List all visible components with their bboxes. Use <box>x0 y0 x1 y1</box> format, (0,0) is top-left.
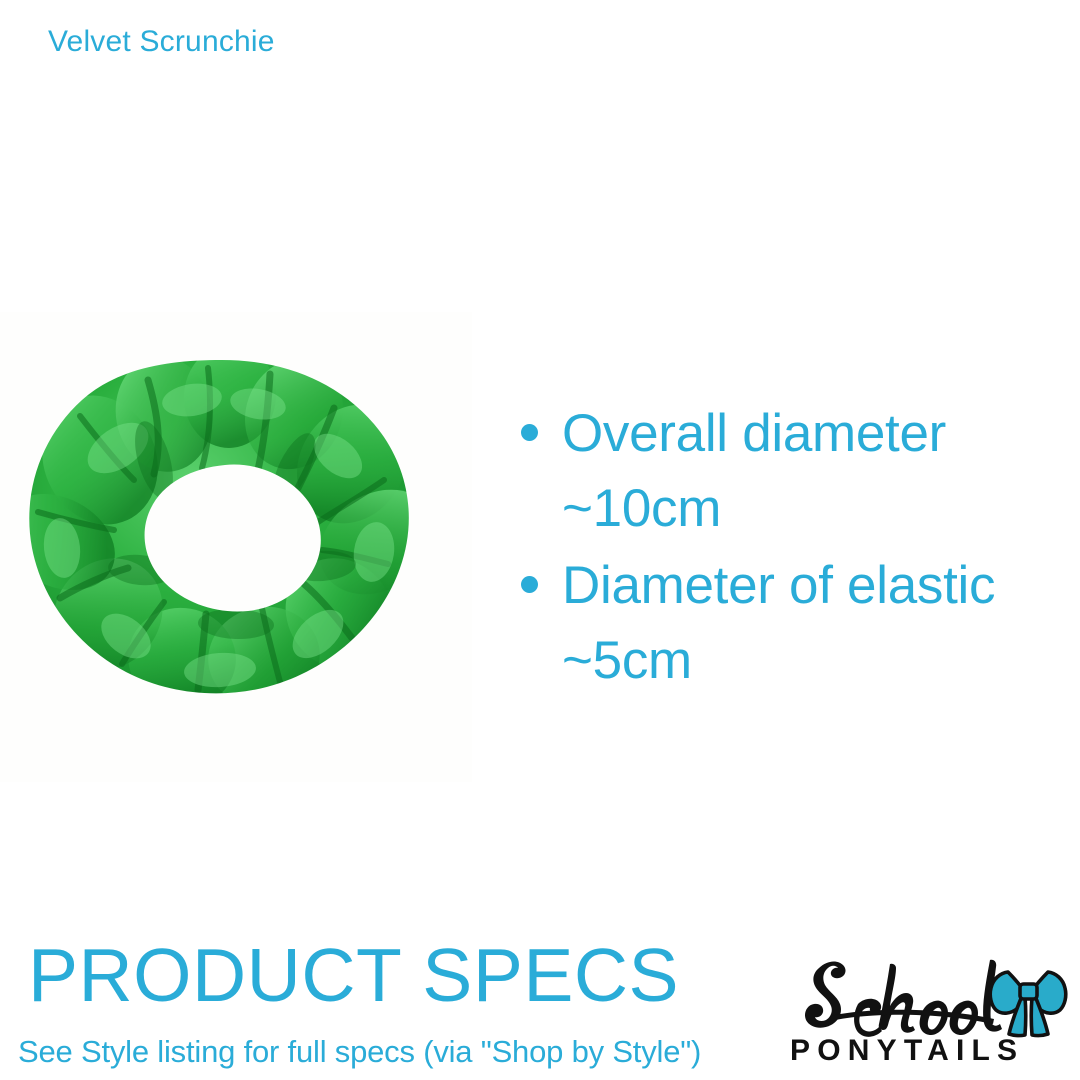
bullet-icon <box>521 576 538 593</box>
logo-script-word <box>805 960 1002 1037</box>
logo-block-word: PONYTAILS <box>790 1034 1024 1067</box>
spec-label: Overall diameter ~10cm <box>562 404 946 538</box>
page-title: Velvet Scrunchie <box>48 24 275 60</box>
product-specs-card: Velvet Scrunchie <box>0 0 1080 1080</box>
footer-subtitle: See Style listing for full specs (via "S… <box>18 1033 701 1070</box>
spec-label: Diameter of elastic ~5cm <box>562 556 995 690</box>
scrunchie-icon <box>22 352 422 702</box>
list-item: Diameter of elastic ~5cm <box>505 548 1075 699</box>
brand-logo: PONYTAILS <box>786 942 1076 1068</box>
product-photo <box>0 312 472 782</box>
spec-list: Overall diameter ~10cm Diameter of elast… <box>505 396 1075 698</box>
bullet-icon <box>521 424 538 441</box>
footer-heading: PRODUCT SPECS <box>28 938 679 1013</box>
list-item: Overall diameter ~10cm <box>505 396 1075 547</box>
footer: PRODUCT SPECS See Style listing for full… <box>0 930 1080 1080</box>
bow-icon <box>990 972 1066 1036</box>
